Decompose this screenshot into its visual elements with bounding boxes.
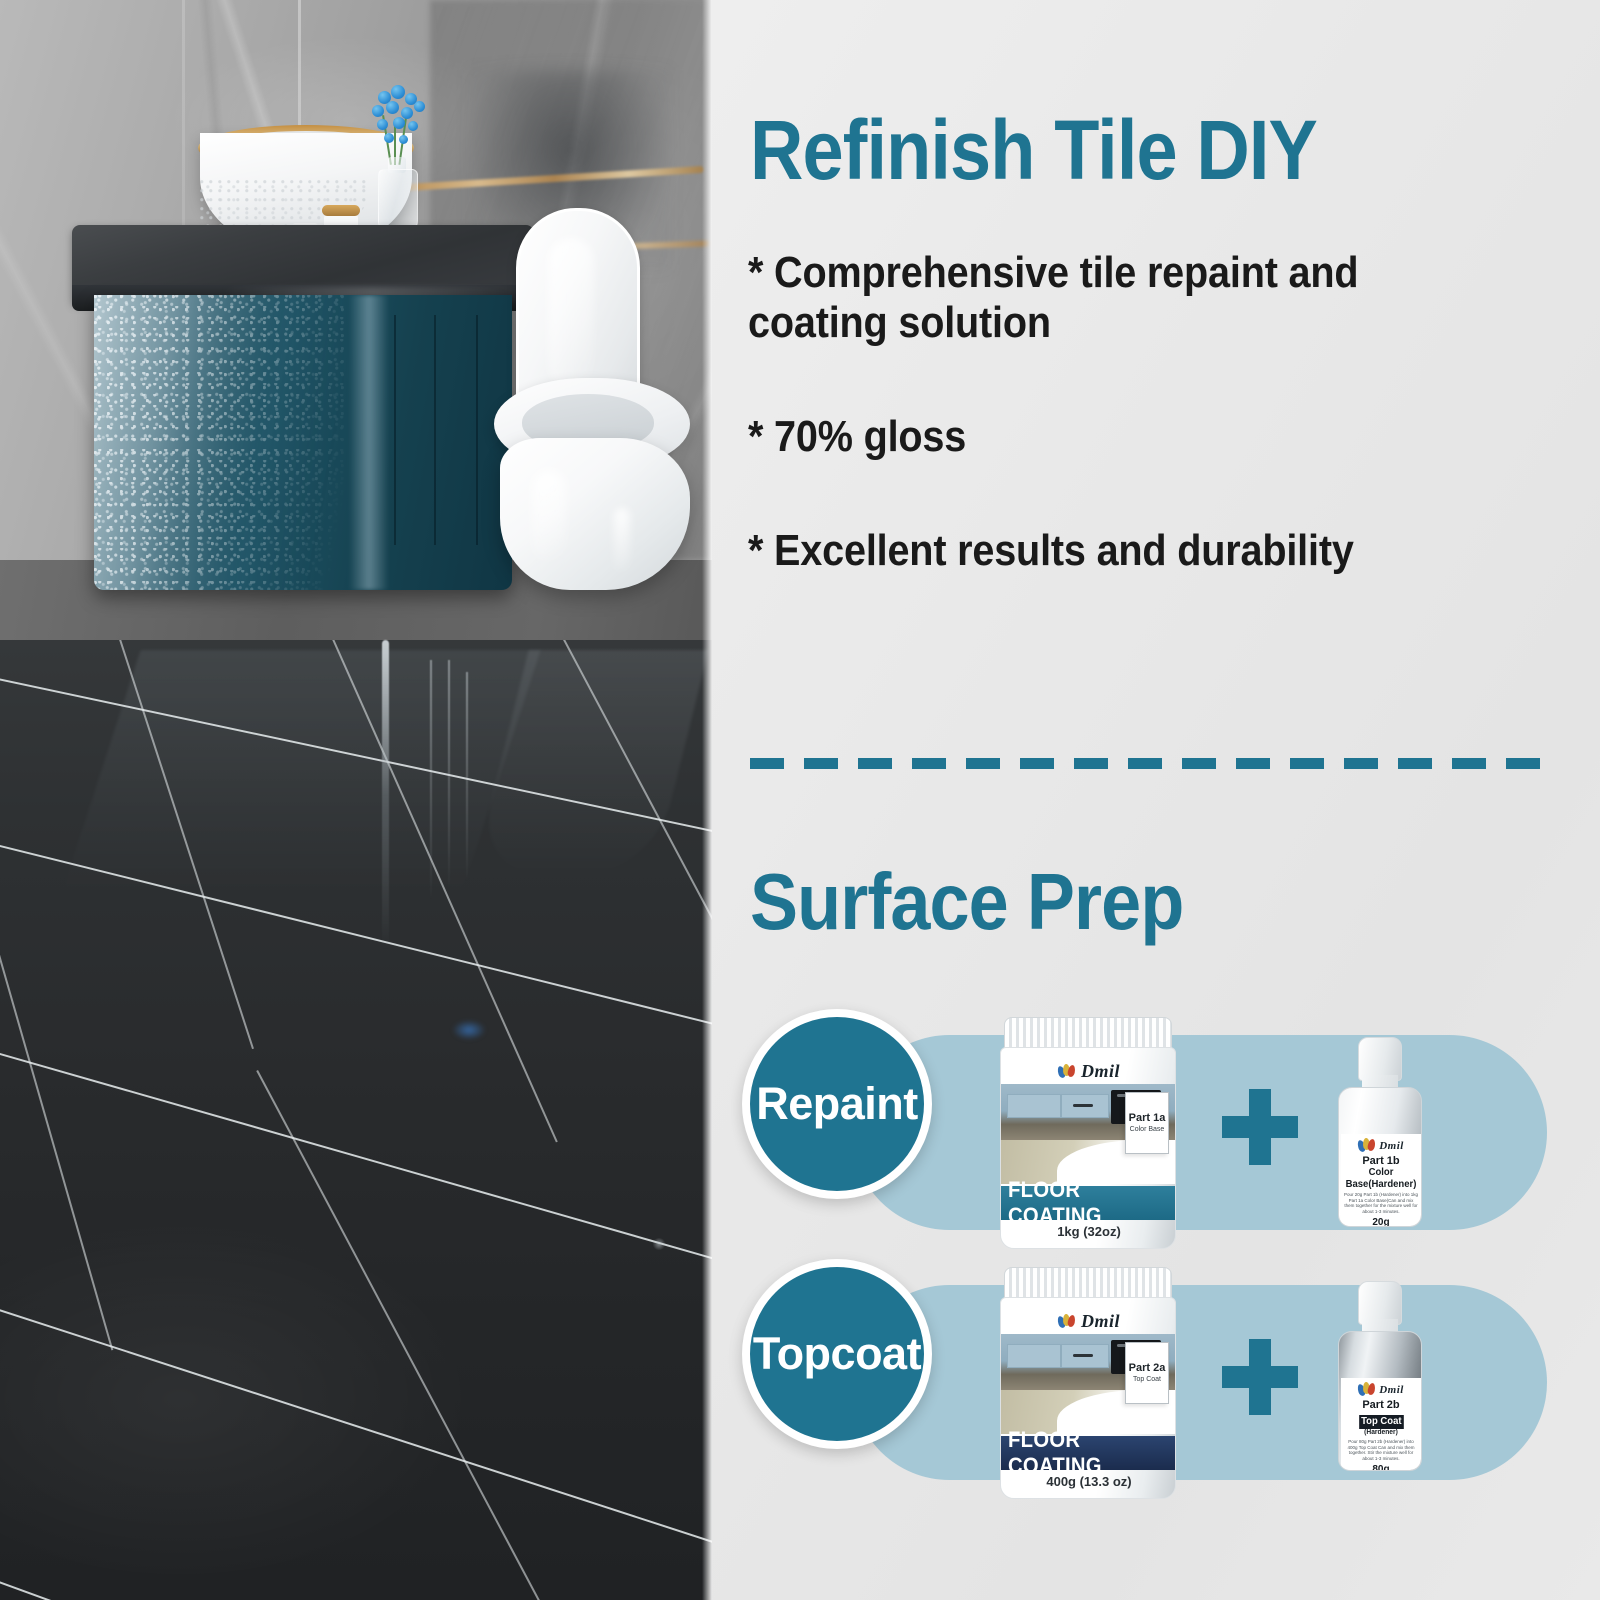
product-jar-topcoat[interactable]: Dmil FLOOR COATING 400g (13.3 oz): [1000, 1267, 1176, 1499]
wood-lid: [322, 205, 360, 216]
reflection-streak: [448, 660, 450, 890]
photo-edge-fade: [702, 0, 712, 1600]
jar-band: FLOOR COATING: [1001, 1186, 1176, 1220]
chrome-leg-reflection: [382, 640, 389, 950]
vanity-gloss: [349, 295, 389, 590]
jar-band: FLOOR COATING: [1001, 1436, 1176, 1470]
vanity-reflection: [59, 650, 540, 900]
bottle-product-name: Top Coat: [1359, 1415, 1403, 1429]
brand-mark-icon: [1058, 1314, 1076, 1329]
blue-flowers: [364, 85, 434, 165]
vanity-groove: [434, 315, 436, 545]
feature-item: * 70% gloss: [748, 412, 1477, 462]
info-panel: Refinish Tile DIY * Comprehensive tile r…: [712, 0, 1600, 1600]
brand-logo: Dmil: [1343, 1138, 1419, 1153]
feature-item: * Excellent results and durability: [748, 526, 1477, 576]
brand-mark-icon: [1358, 1138, 1376, 1153]
jar-part-number: Part 1a: [1129, 1113, 1166, 1125]
brand-logo: Dmil: [1001, 1058, 1176, 1084]
brand-name: Dmil: [1081, 1311, 1120, 1332]
product-bottle-hardener-1a[interactable]: Dmil Part 1b Color Base(Hardener) Pour 2…: [1332, 1037, 1428, 1227]
infographic-page: Refinish Tile DIY * Comprehensive tile r…: [0, 0, 1600, 1600]
bottle-body: Dmil Part 2b Top Coat (Hardener) Pour 80…: [1338, 1331, 1422, 1471]
grout-line: [0, 850, 113, 1350]
dashed-divider: [750, 758, 1550, 769]
product-jar-repaint[interactable]: Dmil FLOOR COATING 1kg (32oz): [1000, 1017, 1176, 1249]
brand-logo: Dmil: [1001, 1308, 1176, 1334]
badge-label: Topcoat: [753, 1328, 921, 1380]
jar-part-tag: Part 1a Color Base: [1125, 1092, 1169, 1154]
jar-part-number: Part 2a: [1129, 1363, 1166, 1375]
floor-highlight: [652, 1238, 666, 1250]
bottle-part-number: Part 1b: [1343, 1155, 1419, 1167]
brand-name: Dmil: [1081, 1061, 1120, 1082]
jar-part-name: Color Base: [1130, 1126, 1165, 1133]
badge-repaint[interactable]: Repaint: [742, 1009, 932, 1199]
bottle-label: Dmil Part 2b Top Coat (Hardener) Pour 80…: [1341, 1378, 1421, 1471]
row-pill-background: [852, 1285, 1547, 1480]
jar-part-tag: Part 2a Top Coat: [1125, 1342, 1169, 1404]
badge-label: Repaint: [756, 1078, 918, 1130]
plus-icon: [1222, 1339, 1298, 1415]
product-bottle-hardener-2b[interactable]: Dmil Part 2b Top Coat (Hardener) Pour 80…: [1332, 1281, 1428, 1471]
jar-part-name: Top Coat: [1133, 1376, 1161, 1383]
product-row-topcoat: Topcoat Dmil: [712, 1255, 1600, 1505]
toilet-bowl-gloss: [532, 470, 566, 562]
toilet-lid-gloss: [548, 238, 594, 388]
reflection-streak: [466, 672, 468, 882]
jar-lid: [1004, 1017, 1172, 1051]
product-row-repaint: Repaint Dmil: [712, 1005, 1600, 1255]
brand-name: Dmil: [1379, 1384, 1404, 1396]
grout-line: [256, 1070, 549, 1600]
badge-topcoat[interactable]: Topcoat: [742, 1259, 932, 1449]
bottle-weight: 80g: [1343, 1464, 1419, 1471]
page-title: Refinish Tile DIY: [750, 108, 1472, 192]
bottle-product-subtitle: (Hardener): [1345, 1429, 1417, 1437]
row-pill-background: [852, 1035, 1547, 1230]
vanity-groove: [394, 315, 396, 545]
reflection-streak: [430, 660, 432, 900]
bottle-body: Dmil Part 1b Color Base(Hardener) Pour 2…: [1338, 1087, 1422, 1227]
jar-body: Dmil FLOOR COATING 1kg (32oz): [1000, 1047, 1176, 1249]
feature-item: * Comprehensive tile repaint and coating…: [748, 248, 1477, 348]
jar-weight: 400g (13.3 oz): [1001, 1474, 1176, 1489]
vanity-cabinet: [72, 225, 534, 590]
jar-weight: 1kg (32oz): [1001, 1224, 1176, 1239]
grout-line: [0, 1545, 712, 1600]
jar-body: Dmil FLOOR COATING 400g (13.3 oz): [1000, 1297, 1176, 1499]
bathroom-photo: [0, 0, 712, 1600]
jar-lid: [1004, 1267, 1172, 1301]
brand-mark-icon: [1058, 1064, 1076, 1079]
bottle-part-number: Part 2b: [1343, 1399, 1419, 1411]
wall-hung-toilet: [486, 208, 712, 598]
vanity-groove: [476, 315, 478, 545]
tile-floor: [0, 640, 712, 1600]
section-title: Surface Prep: [750, 862, 1488, 942]
bottle-instructions: Pour 80g Part 2b (Hardener) into 400g To…: [1343, 1439, 1419, 1462]
toilet-bowl: [500, 438, 690, 590]
plus-icon: [1222, 1089, 1298, 1165]
vanity-body: [94, 295, 512, 590]
bottle-instructions: Pour 20g Part 1b (Hardener) into 1kg Par…: [1343, 1192, 1419, 1215]
jar-band-label: FLOOR COATING: [1008, 1427, 1170, 1479]
toilet-bowl-gloss: [614, 508, 630, 572]
flower-reflection: [452, 1020, 486, 1040]
brand-logo: Dmil: [1343, 1382, 1419, 1397]
bottle-product-name: Color Base(Hardener): [1345, 1167, 1417, 1190]
feature-list: * Comprehensive tile repaint and coating…: [748, 248, 1558, 577]
bottle-label: Dmil Part 1b Color Base(Hardener) Pour 2…: [1341, 1134, 1421, 1227]
bottle-weight: 20g: [1343, 1217, 1419, 1227]
vanity-gradient-finish: [94, 295, 344, 590]
brand-mark-icon: [1358, 1382, 1376, 1397]
brand-name: Dmil: [1379, 1140, 1404, 1152]
jar-band-label: FLOOR COATING: [1008, 1177, 1170, 1229]
